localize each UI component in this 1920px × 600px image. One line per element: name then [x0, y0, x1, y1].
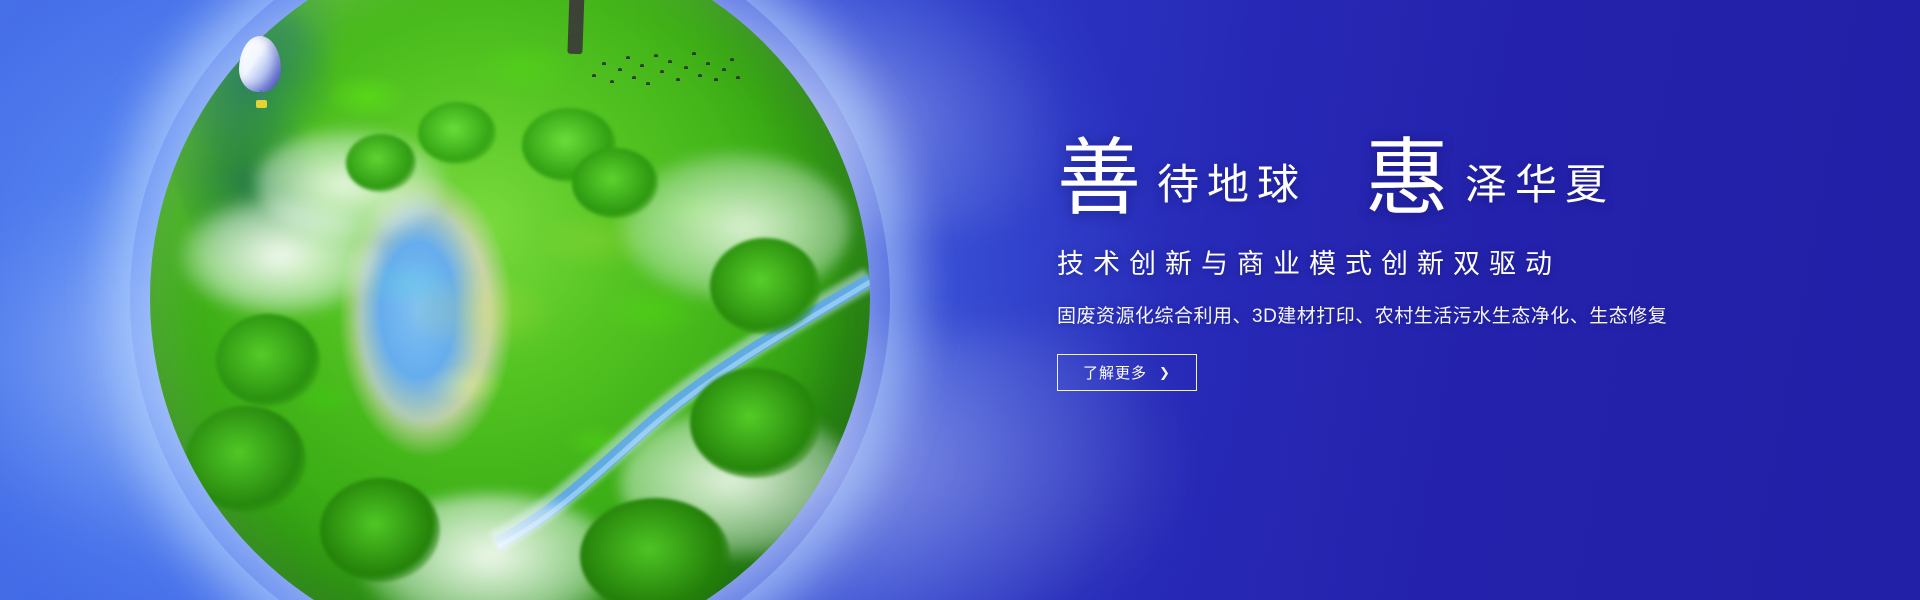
hero-headline: 善 待地球 惠 泽华夏	[1057, 128, 1817, 224]
tree-clump	[320, 478, 440, 582]
headline-text-2: 泽华夏	[1465, 164, 1615, 206]
tree-clump	[572, 148, 658, 218]
hero-description: 固废资源化综合利用、3D建材打印、农村生活污水生态净化、生态修复	[1057, 301, 1817, 328]
tree-clump	[216, 314, 320, 406]
hot-air-balloon	[233, 36, 285, 132]
bird-flock	[588, 48, 738, 94]
headline-accent-char-2: 惠	[1365, 136, 1451, 220]
tree-clump	[710, 238, 820, 334]
chevron-right-icon: ❯	[1159, 365, 1171, 381]
headline-accent-char-1: 善	[1057, 136, 1143, 220]
tree-clump	[346, 134, 416, 192]
hero-subtitle: 技术创新与商业模式创新双驱动	[1057, 242, 1817, 281]
learn-more-label: 了解更多	[1083, 362, 1147, 383]
tree-clump	[418, 102, 496, 164]
hero-banner: 善 待地球 惠 泽华夏 技术创新与商业模式创新双驱动 固废资源化综合利用、3D建…	[0, 0, 1920, 600]
tree-trunk	[567, 0, 587, 54]
learn-more-button[interactable]: 了解更多 ❯	[1057, 354, 1197, 391]
tree-clump	[690, 368, 820, 478]
planet-cloud-upper-left	[256, 128, 446, 238]
balloon-basket	[256, 100, 267, 108]
tree-clump	[186, 406, 306, 512]
hero-copy: 善 待地球 惠 泽华夏 技术创新与商业模式创新双驱动 固废资源化综合利用、3D建…	[1057, 128, 1817, 391]
balloon-envelope	[239, 36, 281, 92]
headline-text-1: 待地球	[1157, 164, 1307, 206]
